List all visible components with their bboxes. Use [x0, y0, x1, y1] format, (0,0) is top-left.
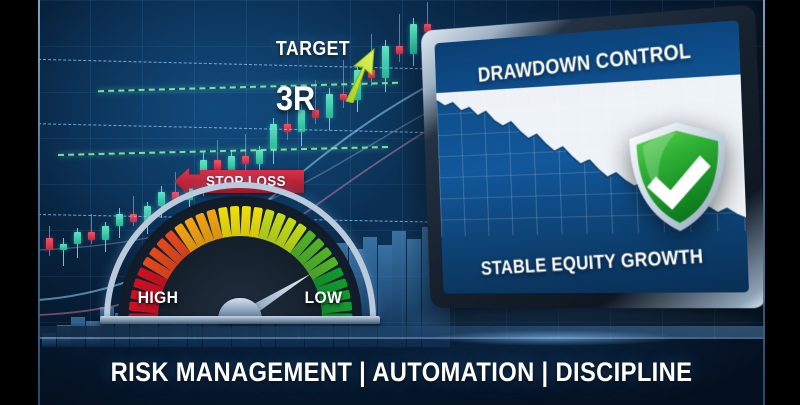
- frame-edge-left: [38, 0, 40, 405]
- candle-body: [242, 156, 249, 164]
- letterbox-left: [0, 0, 38, 405]
- candle-body: [74, 232, 81, 244]
- reward-ratio-label: 3R: [276, 80, 315, 119]
- candle-wick: [63, 238, 65, 266]
- candle-wick: [245, 134, 247, 170]
- candle-body: [256, 150, 263, 164]
- candle-body: [60, 244, 67, 250]
- banner-glow: [430, 330, 680, 346]
- monitor-screen: DRAWDOWN CONTROL: [435, 20, 750, 293]
- risk-gauge: HIGH LOW: [100, 212, 380, 324]
- candle-body: [396, 46, 403, 54]
- gauge-base: [100, 316, 380, 324]
- banner-text: RISK MANAGEMENT | AUTOMATION | DISCIPLIN…: [111, 357, 693, 388]
- infographic-canvas: TARGET 3R STOP LOSS: [0, 0, 800, 405]
- drawdown-series: [436, 74, 746, 237]
- letterbox-right: [765, 0, 800, 405]
- candle-wick: [399, 14, 401, 62]
- target-label: TARGET: [276, 38, 350, 61]
- gauge-low-label: LOW: [305, 288, 343, 308]
- monitor-device: DRAWDOWN CONTROL: [421, 4, 765, 308]
- gauge-high-label: HIGH: [138, 288, 179, 308]
- drawdown-chart: [436, 74, 746, 237]
- candle-body: [88, 232, 95, 240]
- candle-body: [410, 24, 417, 54]
- monitor-subtitle: STABLE EQUITY GROWTH: [456, 244, 732, 282]
- up-arrow-icon: [341, 47, 377, 103]
- bottom-banner: RISK MANAGEMENT | AUTOMATION | DISCIPLIN…: [38, 337, 765, 405]
- candle-body: [382, 46, 389, 78]
- candle-body: [46, 238, 53, 250]
- candle-body: [326, 94, 333, 118]
